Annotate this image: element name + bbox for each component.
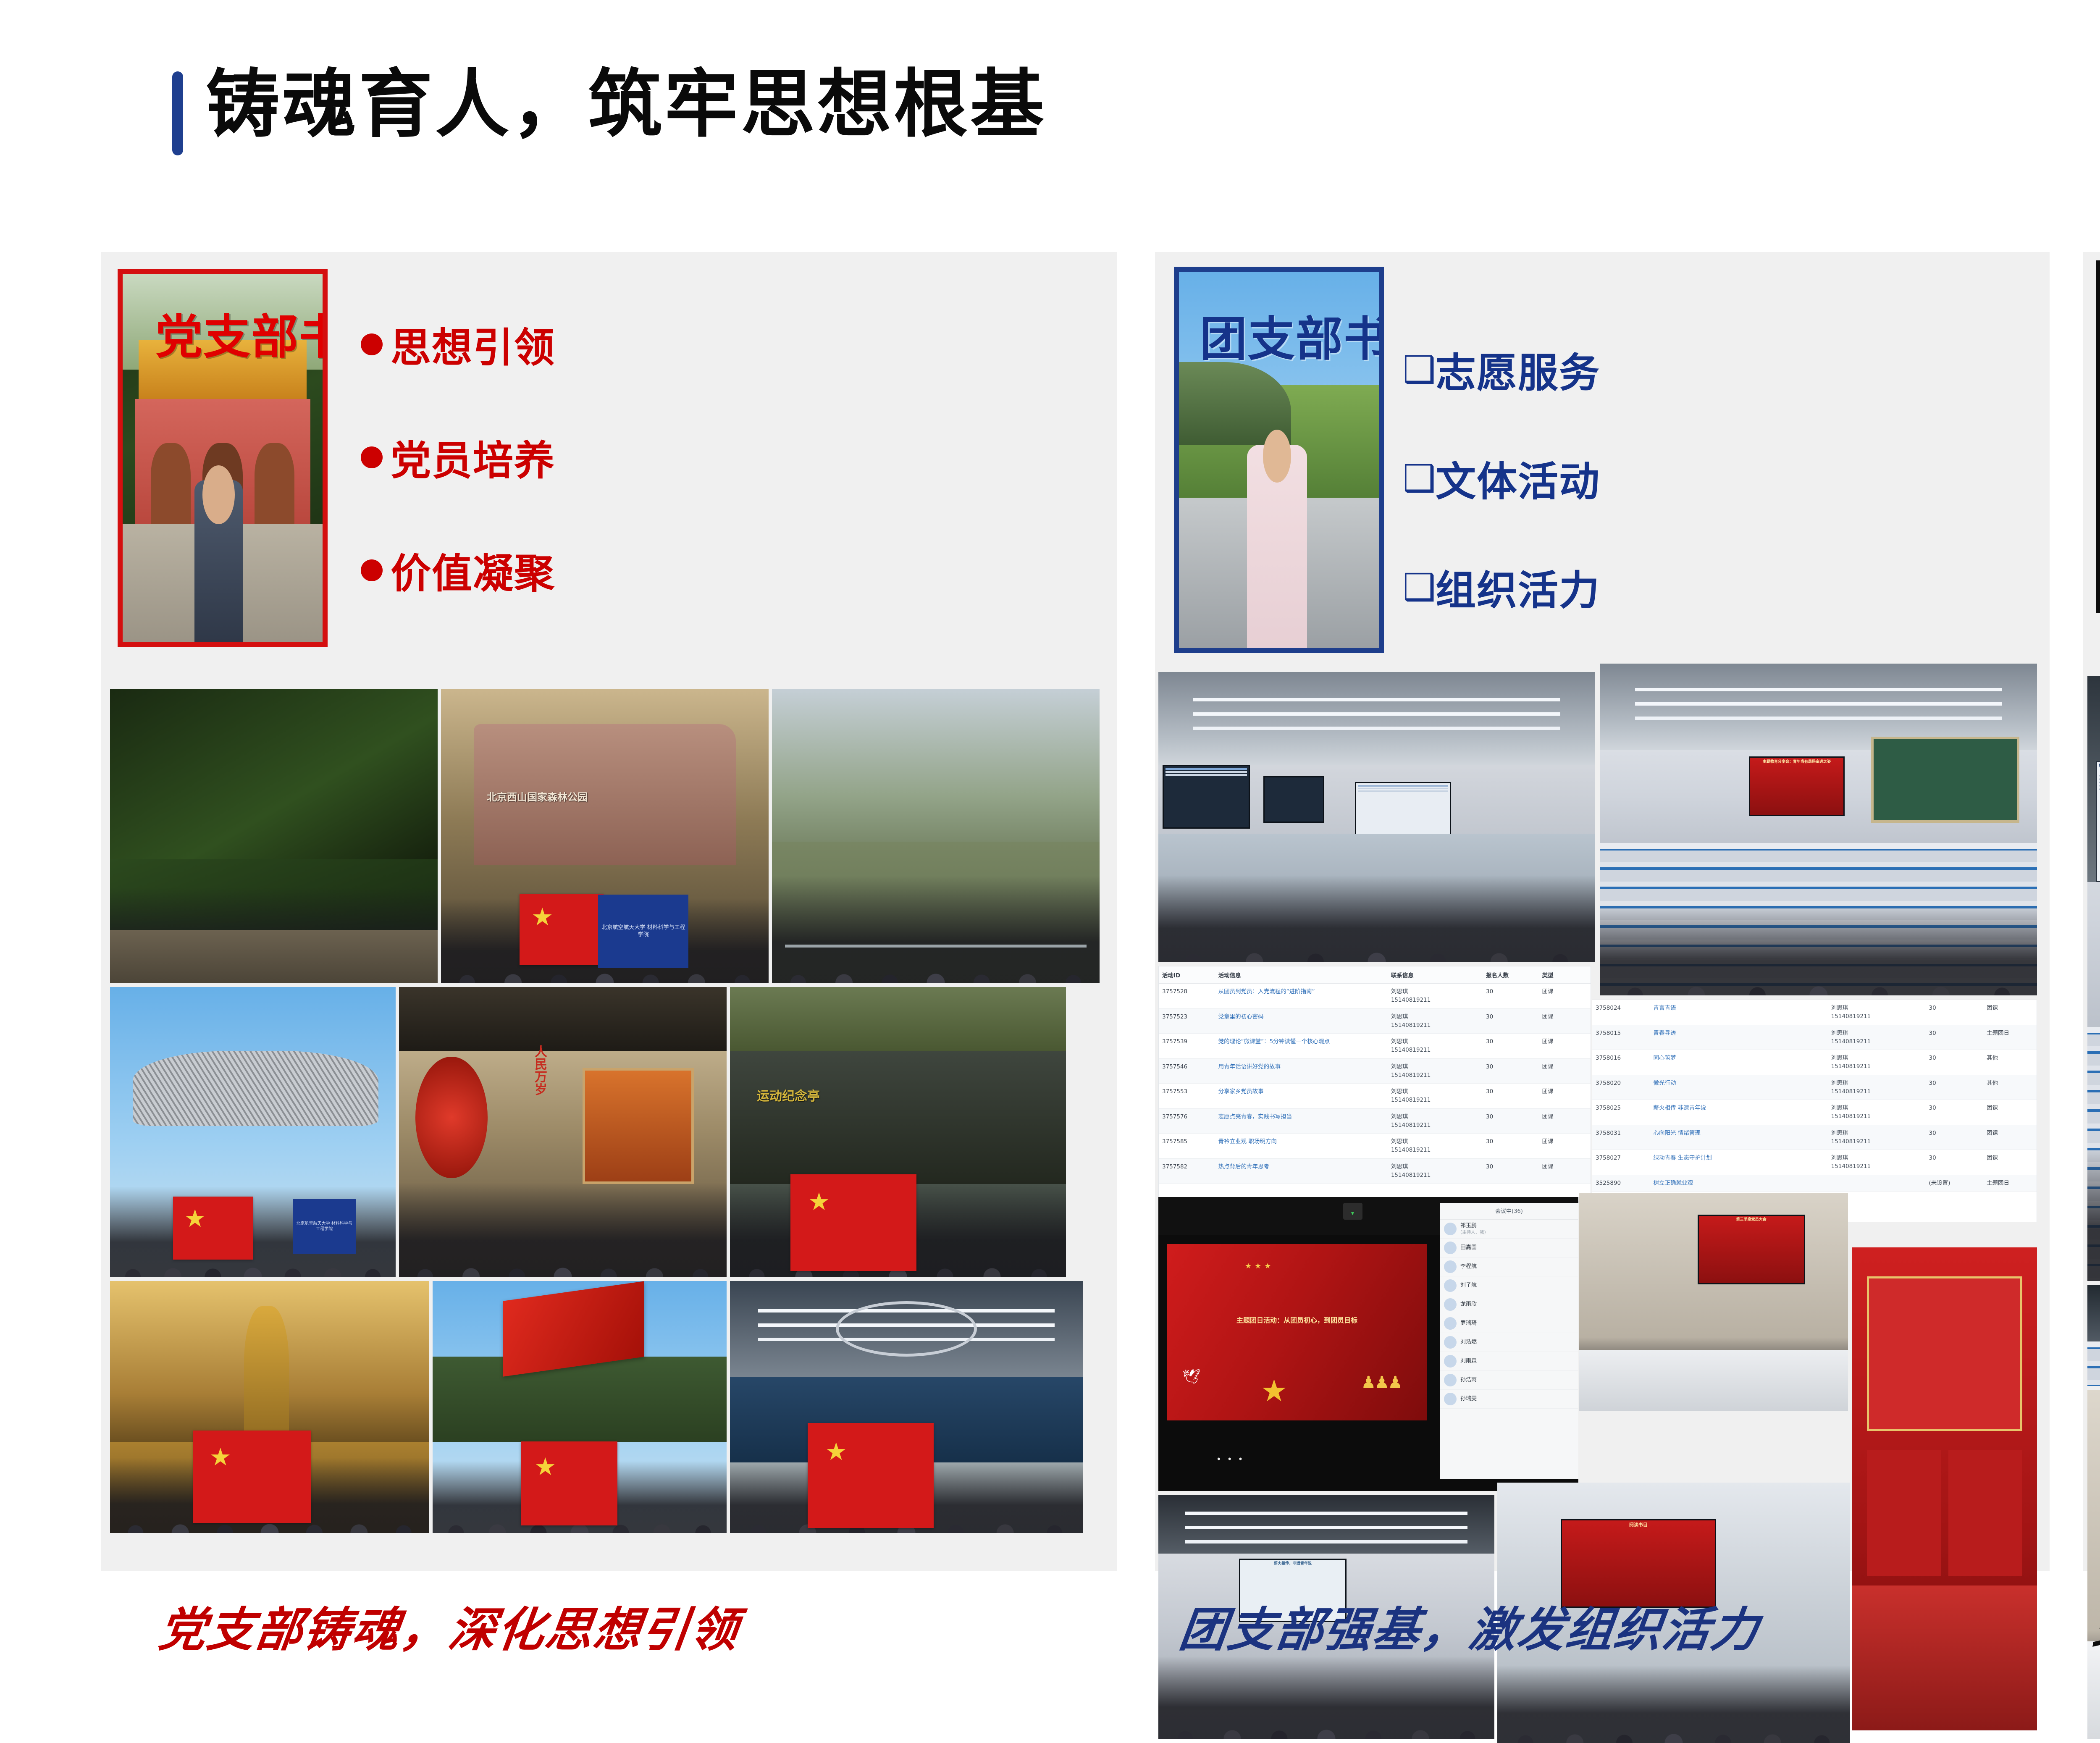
cell-type: 团课 [1539, 984, 1591, 1009]
cell-signup-count: 30 [1483, 1034, 1539, 1059]
participant-name: 孙瑞雯 [1460, 1396, 1477, 1402]
activity-table-right[interactable]: 3758024青言青语刘思琪1514081921130团课3758015青春寻迹… [1592, 1000, 2037, 1222]
cell-signup-count: 30 [1925, 1075, 1983, 1100]
cell-activity-id: 3757539 [1159, 1034, 1215, 1059]
bullet-list-party-branch: 思想引领 党员培养 价值凝聚 [353, 315, 546, 599]
cell-activity-name[interactable]: 心向阳光 情绪管理 [1650, 1125, 1828, 1150]
hero-role-label: 团支部书记 [1200, 301, 1384, 369]
cell-type: 团课 [1983, 1000, 2037, 1025]
table-row[interactable]: 3525890树立正确就业观(未设置)主题团日 [1592, 1175, 2037, 1191]
cell-contact: 刘思琪15140819211 [1388, 1134, 1483, 1159]
bullet-label: 党员培养 [391, 428, 555, 486]
cell-activity-id: 3758015 [1592, 1025, 1650, 1050]
photo-group-memorial-wall: 运动纪念亭 [730, 987, 1066, 1277]
cell-activity-name[interactable]: 青春寻迹 [1650, 1025, 1828, 1050]
table-column-header: 活动信息 [1215, 966, 1388, 984]
table-row[interactable]: 3757585青衿立业观 职场明方向刘思琪1514081921130团课 [1159, 1134, 1591, 1159]
participant-name: 罗瑞琦 [1460, 1320, 1477, 1327]
cell-signup-count: 30 [1483, 1134, 1539, 1159]
photo-class-meeting-group: 2024级班级班会 破旧局凝心聚力， 开新篇众志成城 [2087, 1390, 2100, 1739]
photo-museum-exhibition-hall: 人民万岁 [399, 987, 727, 1277]
cell-activity-id: 3758024 [1592, 1000, 1650, 1025]
cell-contact: 刘思琪15140819211 [1388, 1108, 1483, 1134]
cell-activity-name[interactable]: 用青年话语讲好党的故事 [1215, 1058, 1388, 1084]
cell-type: 团课 [1539, 1008, 1591, 1034]
cell-activity-id: 3758025 [1592, 1100, 1650, 1125]
photo-classroom-slides-wide [2087, 1285, 2100, 1386]
cell-contact [1828, 1175, 1926, 1191]
cell-type: 团课 [1539, 1084, 1591, 1109]
cell-activity-name[interactable]: 同心筑梦 [1650, 1050, 1828, 1075]
photo-group-exhibition-hall [730, 1281, 1083, 1533]
avatar [1444, 1336, 1457, 1349]
slide-header: 铸魂育人，筑牢思想根基 [0, 0, 2100, 235]
cell-activity-name[interactable]: 党的理论“微课堂”：5分钟读懂一个核心观点 [1215, 1034, 1388, 1059]
cell-activity-id: 3757528 [1159, 984, 1215, 1009]
roster-participant[interactable]: 李程航 [1440, 1257, 1578, 1276]
participant-name: 刘子航 [1460, 1282, 1477, 1289]
photo-lecture-hall-public-safety: 妨害公共安全 《治安管理处罚法》第30-39条： ➢ 涉及危险物质的违法行为➢ … [2087, 676, 2100, 1281]
cell-signup-count: 30 [1483, 1058, 1539, 1084]
activity-table-left[interactable]: 活动ID活动信息联系信息报名人数类型 3757528从团员到党员：入党流程的“进… [1158, 966, 1591, 1201]
title-accent-bar [172, 71, 183, 155]
table-row[interactable]: 3757523党章里的初心密码刘思琪1514081921130团课 [1159, 1008, 1591, 1034]
theme-day-video-meeting[interactable]: ★★★ 主题团日活动：从团员初心，到团员目标 ★ 🕊 ♟♟♟ • • • 会议中… [1158, 1197, 1578, 1491]
cell-activity-name[interactable]: 树立正确就业观 [1650, 1175, 1828, 1191]
roster-header: 会议中(36) [1440, 1203, 1578, 1220]
cell-type: 团课 [1539, 1108, 1591, 1134]
table-row[interactable]: 3758016同心筑梦刘思琪1514081921130其他 [1592, 1050, 2037, 1075]
cell-type: 其他 [1983, 1050, 2037, 1075]
cell-contact: 刘思琪15140819211 [1828, 1125, 1926, 1150]
cell-type: 主题团日 [1983, 1025, 2037, 1050]
cell-contact: 刘思琪15140819211 [1388, 1058, 1483, 1084]
table-column-header: 活动ID [1159, 966, 1215, 984]
cell-signup-count: (未设置) [1925, 1175, 1983, 1191]
roster-participant[interactable]: 刘浩燃 [1440, 1333, 1578, 1352]
photo-hiking-selfie-mountain-railing [772, 689, 1100, 983]
table-row[interactable]: 3758027绿动青春 生态守护计划刘思琪1514081921130团课 [1592, 1150, 2037, 1175]
dove-icon: 🕊 [1182, 1368, 1200, 1385]
photo-group-birds-nest-stadium: 北京航空航天大学 材料科学与工程学院 [110, 987, 396, 1277]
cell-activity-name[interactable]: 青衿立业观 职场明方向 [1215, 1134, 1388, 1159]
self-video-tile [1343, 1203, 1362, 1220]
slide-title: 主题团日活动：从团员初心，到团员目标 [1185, 1315, 1409, 1325]
avatar [1444, 1279, 1457, 1292]
cell-type: 主题团日 [1983, 1175, 2037, 1191]
table-row[interactable]: 3757546用青年话语讲好党的故事刘思琪1514081921130团课 [1159, 1058, 1591, 1084]
roster-participant[interactable]: 田嘉国 [1440, 1239, 1578, 1257]
cell-contact: 刘思琪15140819211 [1828, 1025, 1926, 1050]
table-row[interactable]: 3757576志愿点亮青春，实践书写担当刘思琪1514081921130团课 [1159, 1108, 1591, 1134]
photo-grid-row-3 [110, 1281, 1083, 1533]
caption-party-branch: 党支部铸魂，深化思想引领 [155, 1592, 743, 1660]
cell-type: 团课 [1539, 1134, 1591, 1159]
bullet-dot-icon [353, 333, 391, 355]
cell-activity-id: 3757546 [1159, 1058, 1215, 1084]
cell-activity-name[interactable]: 青言青语 [1650, 1000, 1828, 1025]
panel-party-branch-secretary: 党支部书记 思想引领 党员培养 价值凝聚 北京西山国家森林公园 北京航空航天大学… [101, 252, 1117, 1571]
caption-youth-league: 团支部强基，激发组织活力 [1176, 1592, 1764, 1660]
cell-type: 团课 [1539, 1058, 1591, 1084]
buaa-department-banner: 北京航空航天大学 材料科学与工程学院 [293, 1199, 356, 1254]
hero-role-label: 党支部书记 [155, 299, 328, 367]
page-title: 铸魂育人，筑牢思想根基 [206, 63, 1047, 146]
table-row[interactable]: 3757539党的理论“微课堂”：5分钟读懂一个核心观点刘思琪151408192… [1159, 1034, 1591, 1059]
cell-contact: 刘思琪15140819211 [1388, 984, 1483, 1009]
roster-participant[interactable]: 龙雨欣 [1440, 1295, 1578, 1314]
cell-activity-name[interactable]: 绿动青春 生态守护计划 [1650, 1150, 1828, 1175]
photo-group-xishan-forest-park-stone: 北京西山国家森林公园 北京航空航天大学 材料科学与工程学院 [441, 689, 769, 983]
cell-signup-count: 30 [1925, 1050, 1983, 1075]
photo-grid-row-1: 北京西山国家森林公园 北京航空航天大学 材料科学与工程学院 [110, 689, 1100, 983]
cell-activity-name[interactable]: 从团员到党员：入党流程的“进阶指南” [1215, 984, 1388, 1009]
participant-name: 李程航 [1460, 1263, 1477, 1270]
bullet-item: ❑ 文体活动 [1403, 449, 1600, 507]
cell-activity-name[interactable]: 热点背后的青年思考 [1215, 1158, 1388, 1184]
cell-type: 团课 [1539, 1158, 1591, 1184]
cell-contact: 刘思琪15140819211 [1828, 1000, 1926, 1025]
photo-caption: 运动纪念亭 [757, 1086, 820, 1104]
cell-signup-count: 30 [1925, 1000, 1983, 1025]
photo-caption: 第三季度党员大会 [1701, 1218, 1802, 1222]
bullet-list-youth-league: ❑ 志愿服务 ❑ 文体活动 ❑ 组织活力 [1403, 340, 1600, 616]
photo-caption: 薪火相传，非遗青年说 [1242, 1562, 1344, 1566]
table-row[interactable]: 3758020微光行动刘思琪1514081921130其他 [1592, 1075, 2037, 1100]
bullet-label: 组织活力 [1436, 558, 1600, 616]
avatar [1444, 1393, 1457, 1405]
roster-participant[interactable]: 刘子航 [1440, 1276, 1578, 1295]
avatar [1444, 1223, 1457, 1235]
bullet-dot-icon [353, 559, 391, 581]
stars-decoration: ★★★ [1245, 1262, 1274, 1270]
cell-contact: 刘思琪15140819211 [1828, 1100, 1926, 1125]
figures-icon: ♟♟♟ [1361, 1373, 1401, 1392]
big-star-icon: ★ [1260, 1376, 1288, 1406]
cell-contact: 刘思琪15140819211 [1388, 1084, 1483, 1109]
bullet-square-icon: ❑ [1403, 565, 1436, 609]
shared-slide: ★★★ 主题团日活动：从团员初心，到团员目标 ★ 🕊 ♟♟♟ [1167, 1244, 1427, 1420]
cell-type: 团课 [1983, 1100, 2037, 1125]
table-row[interactable]: 3758024青言青语刘思琪1514081921130团课 [1592, 1000, 2037, 1025]
cell-type: 团课 [1983, 1125, 2037, 1150]
slide-pager-dots[interactable]: • • • [1217, 1454, 1244, 1465]
cell-signup-count: 30 [1925, 1125, 1983, 1150]
cell-type: 团课 [1983, 1150, 2037, 1175]
cell-signup-count: 30 [1483, 1158, 1539, 1184]
buaa-department-banner: 北京航空航天大学 材料科学与工程学院 [598, 895, 688, 968]
bullet-item: ❑ 志愿服务 [1403, 340, 1600, 399]
cell-activity-name[interactable]: 微光行动 [1650, 1075, 1828, 1100]
participant-name: 孙浩雨 [1460, 1377, 1477, 1383]
cell-contact: 刘思琪15140819211 [1828, 1150, 1926, 1175]
roster-participant[interactable]: 刘雨森 [1440, 1352, 1578, 1371]
bullet-item: 思想引领 [353, 315, 546, 373]
cell-signup-count: 30 [1925, 1025, 1983, 1050]
table-column-header: 报名人数 [1483, 966, 1539, 984]
roster-participant[interactable]: 孙浩雨 [1440, 1371, 1578, 1390]
table-row[interactable]: 3757582热点背后的青年思考刘思琪1514081921130团课 [1159, 1158, 1591, 1184]
table-row[interactable]: 3758025薪火相传 非遗青年说刘思琪1514081921130团课 [1592, 1100, 2037, 1125]
participant-name: 祁玉鹏(主持人、我) [1460, 1223, 1486, 1235]
photo-party-member-quarterly-meeting: 第三季度党员大会 [1579, 1193, 1848, 1411]
cell-type: 其他 [1983, 1075, 2037, 1100]
cell-activity-name[interactable]: 分享家乡党员故事 [1215, 1084, 1388, 1109]
photo-caption: 人民万岁 [530, 1045, 549, 1095]
table-row[interactable]: 3757528从团员到党员：入党流程的“进阶指南”刘思琪151408192113… [1159, 984, 1591, 1009]
cell-signup-count: 30 [1483, 1084, 1539, 1109]
photo-caption: 阅读书目 [1564, 1522, 1713, 1528]
bullet-label: 志愿服务 [1436, 340, 1600, 399]
cell-type: 团课 [1539, 1034, 1591, 1059]
avatar [1444, 1374, 1457, 1386]
cell-activity-name[interactable]: 志愿点亮青春，实践书写担当 [1215, 1108, 1388, 1134]
table-row[interactable]: 3757553分享家乡党员故事刘思琪1514081921130团课 [1159, 1084, 1591, 1109]
photo-caption: 北京西山国家森林公园 [487, 789, 588, 803]
cell-activity-id: 3758031 [1592, 1125, 1650, 1150]
table-row[interactable]: 3758031心向阳光 情绪管理刘思琪1514081921130团课 [1592, 1125, 2037, 1150]
cell-contact: 刘思琪15140819211 [1388, 1158, 1483, 1184]
bullet-label: 思想引领 [391, 315, 555, 373]
cell-activity-id: 3758016 [1592, 1050, 1650, 1075]
hero-photo-class-monitor: 班长 [2096, 260, 2100, 613]
table-row[interactable]: 3758015青春寻迹刘思琪1514081921130主题团日 [1592, 1025, 2037, 1050]
cell-activity-id: 3758027 [1592, 1150, 1650, 1175]
avatar [1444, 1260, 1457, 1273]
participant-name: 刘浩燃 [1460, 1339, 1477, 1346]
photo-group-red-flag-monument [433, 1281, 727, 1533]
avatar [1444, 1355, 1457, 1368]
cell-activity-name[interactable]: 薪火相传 非遗青年说 [1650, 1100, 1828, 1125]
avatar [1444, 1298, 1457, 1311]
participant-name: 龙雨欣 [1460, 1301, 1477, 1308]
cell-activity-id: 3758020 [1592, 1075, 1650, 1100]
cell-signup-count: 30 [1483, 984, 1539, 1009]
cell-signup-count: 30 [1483, 1108, 1539, 1134]
cell-contact: 刘思琪15140819211 [1388, 1008, 1483, 1034]
photo-party-history-exhibition-red-wall [1852, 1247, 2037, 1730]
cell-activity-id: 3525890 [1592, 1175, 1650, 1191]
bullet-item: 价值凝聚 [353, 541, 546, 599]
cell-contact: 刘思琪15140819211 [1828, 1050, 1926, 1075]
bullet-item: 党员培养 [353, 428, 546, 486]
panel-youth-league-secretary: 团支部书记 ❑ 志愿服务 ❑ 文体活动 ❑ 组织活力 [1155, 252, 2050, 1571]
photo-caption: 主题教育分享会：青年当有昂扬奋进之姿 [1752, 759, 1842, 764]
cell-activity-name[interactable]: 党章里的初心密码 [1215, 1008, 1388, 1034]
bullet-square-icon: ❑ [1403, 457, 1436, 500]
avatar [1444, 1317, 1457, 1330]
bullet-dot-icon [353, 446, 391, 468]
cell-activity-id: 3757576 [1159, 1108, 1215, 1134]
table-column-header: 类型 [1539, 966, 1591, 984]
cell-activity-id: 3757582 [1159, 1158, 1215, 1184]
photo-hiking-group-forest-trail [110, 689, 438, 983]
roster-participant[interactable]: 罗瑞琦 [1440, 1314, 1578, 1333]
bullet-label: 价值凝聚 [391, 541, 555, 599]
cell-contact: 刘思琪15140819211 [1828, 1075, 1926, 1100]
participant-roster[interactable]: 会议中(36) 祁玉鹏(主持人、我)田嘉国李程航刘子航龙雨欣罗瑞琦刘浩燃刘雨森孙… [1440, 1203, 1578, 1479]
bullet-label: 文体活动 [1436, 449, 1600, 507]
avatar [1444, 1242, 1457, 1254]
cell-signup-count: 30 [1925, 1100, 1983, 1125]
photo-group-golden-statue [110, 1281, 429, 1533]
participant-name: 田嘉国 [1460, 1244, 1477, 1251]
cell-activity-id: 3757585 [1159, 1134, 1215, 1159]
participant-role: (主持人、我) [1460, 1230, 1486, 1235]
cell-activity-id: 3757553 [1159, 1084, 1215, 1109]
cell-signup-count: 30 [1483, 1008, 1539, 1034]
table-column-header: 联系信息 [1388, 966, 1483, 984]
roster-participant[interactable]: 祁玉鹏(主持人、我) [1440, 1220, 1578, 1239]
cell-activity-id: 3757523 [1159, 1008, 1215, 1034]
photo-classroom-seminar-discussion [1158, 672, 1595, 962]
panel-class-monitor: 班长 ➢ 基础管理 ➢ 骨干培养 ➢ 协同联动 妨害公共安全 《治安管理处罚法》… [2083, 252, 2100, 1571]
hero-photo-party-branch: 党支部书记 [118, 269, 328, 647]
bullet-item: ❑ 组织活力 [1403, 558, 1600, 616]
cell-contact: 刘思琪15140819211 [1388, 1034, 1483, 1059]
roster-participant[interactable]: 孙瑞雯 [1440, 1390, 1578, 1409]
participant-name: 刘雨森 [1460, 1358, 1477, 1365]
bullet-square-icon: ❑ [1403, 348, 1436, 391]
photo-lecture-hall-theme-class: 主题教育分享会：青年当有昂扬奋进之姿 [1600, 664, 2037, 995]
hero-photo-youth-league: 团支部书记 [1174, 267, 1384, 653]
photo-grid-row-2: 北京航空航天大学 材料科学与工程学院 人民万岁 运动纪念亭 [110, 987, 1066, 1277]
cell-signup-count: 30 [1925, 1150, 1983, 1175]
